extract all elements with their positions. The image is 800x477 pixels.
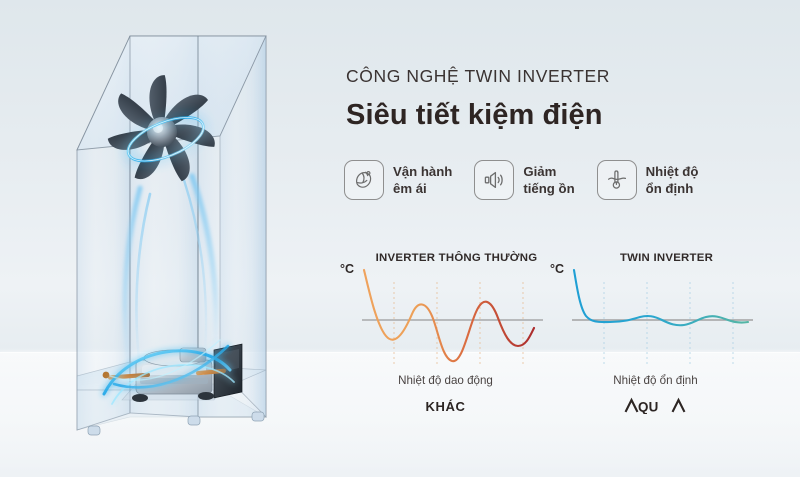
page-title: Siêu tiết kiệm điện [346,99,603,132]
eyebrow-text: CÔNG NGHỆ TWIN INVERTER [346,66,610,87]
aqua-logo: QU [548,396,763,414]
chart-gridlines [394,282,523,364]
feature-label: Vận hành êm ái [393,163,452,198]
chart-twin-inverter: TWIN INVERTER °C [548,244,763,434]
feature-list: Vận hành êm ái Giảm tiếng ồn [344,160,698,200]
chart-title: INVERTER THÔNG THƯỜNG [338,252,553,264]
chart-title: TWIN INVERTER [548,252,763,264]
chart-caption: Nhiệt độ ổn định [548,374,763,387]
feature-item-stable-temperature: Nhiệt độ ổn định [597,160,699,200]
feature-item-low-noise: Giảm tiếng ồn [474,160,574,200]
series-line-twin [574,270,748,325]
sleep-quiet-icon [344,160,384,200]
feature-label: Nhiệt độ ổn định [646,163,699,198]
chart-plot-area [548,266,763,374]
promo-banner: CÔNG NGHỆ TWIN INVERTER Siêu tiết kiệm đ… [0,0,800,477]
refrigerator-illustration [70,18,330,458]
chart-brand-label: KHÁC [338,399,553,414]
comparison-charts: INVERTER THÔNG THƯỜNG °C [330,244,800,444]
chart-plot-area [338,266,553,374]
chart-conventional-inverter: INVERTER THÔNG THƯỜNG °C [338,244,553,434]
feature-item-quiet-operation: Vận hành êm ái [344,160,452,200]
feature-label: Giảm tiếng ồn [523,163,574,198]
svg-text:QU: QU [638,399,659,414]
chart-caption: Nhiệt độ dao động [338,374,553,387]
thermometer-icon [597,160,637,200]
content-column: CÔNG NGHỆ TWIN INVERTER Siêu tiết kiệm đ… [330,0,800,477]
series-line-conventional [364,270,534,361]
speaker-icon [474,160,514,200]
